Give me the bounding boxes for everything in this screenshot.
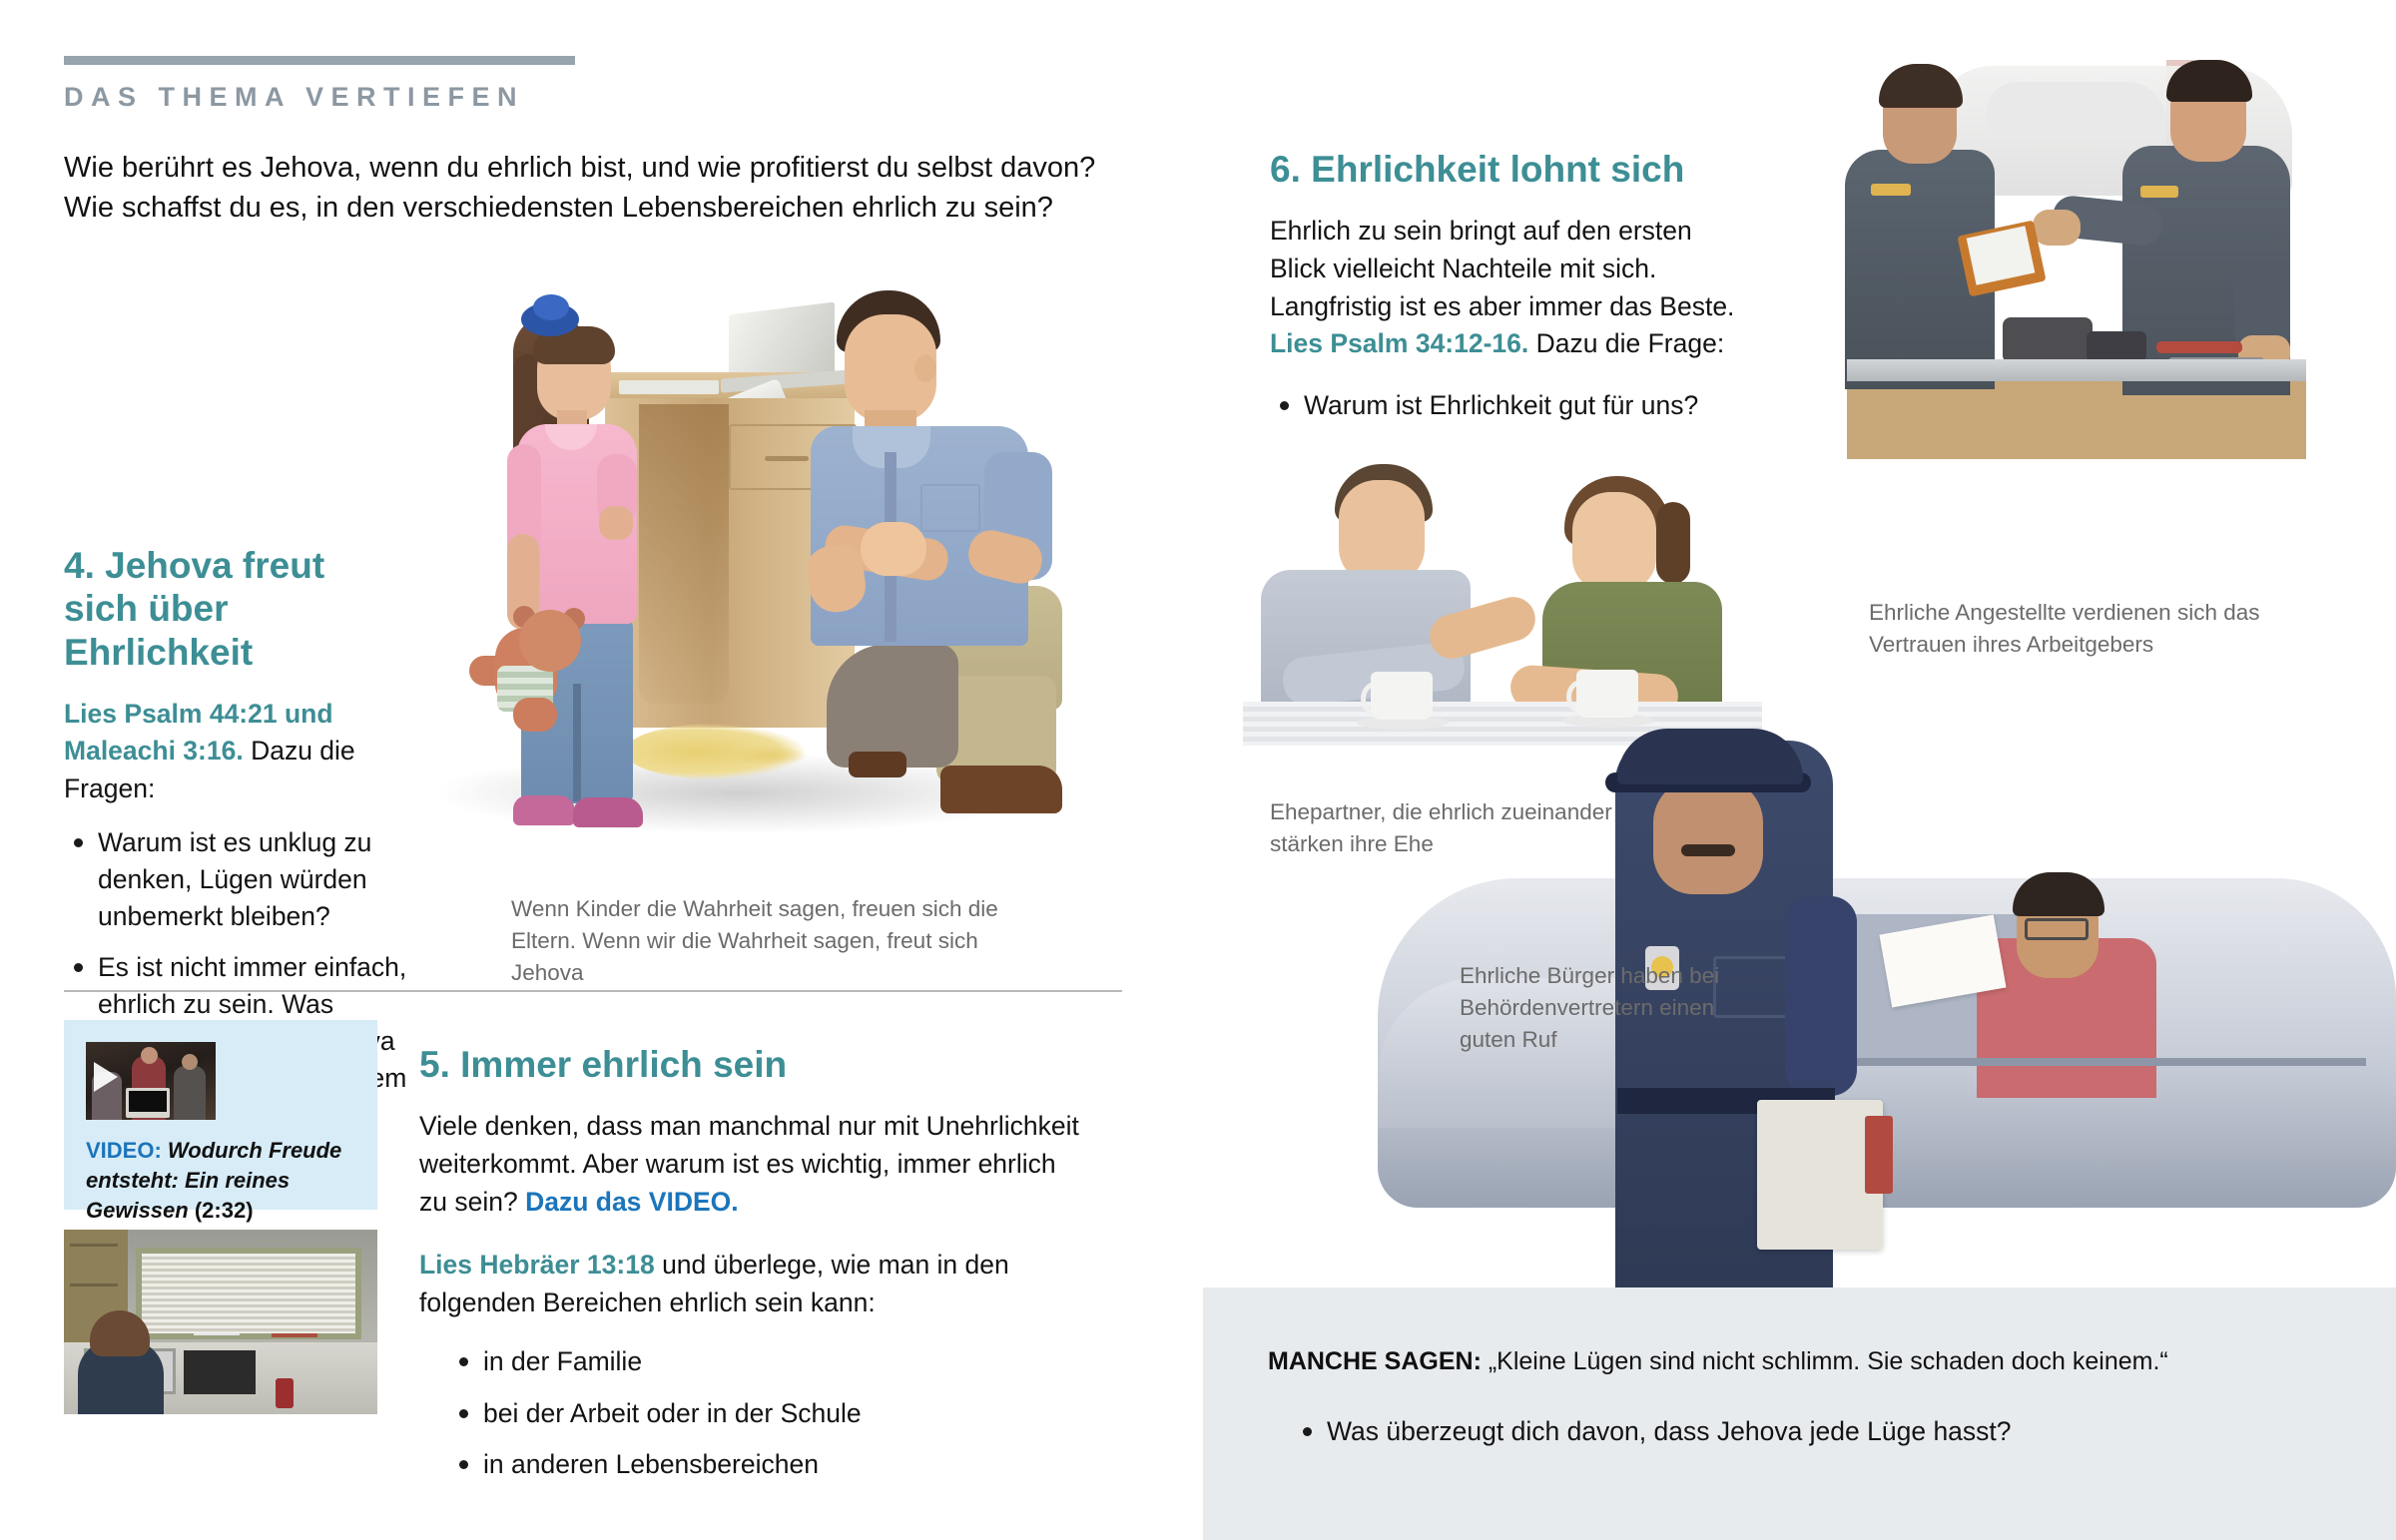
manche-sagen-label: MANCHE SAGEN: bbox=[1268, 1347, 1482, 1375]
girl-shoe-left bbox=[513, 795, 575, 825]
manche-sagen-quote: „Kleine Lügen sind nicht schlimm. Sie sc… bbox=[1482, 1347, 2168, 1375]
scripture-reference-link[interactable]: Lies Hebräer 13:18 bbox=[419, 1250, 655, 1280]
employer-name-badge bbox=[1871, 184, 1911, 196]
father-ear bbox=[914, 354, 936, 382]
workshop-illustration bbox=[1837, 60, 2356, 569]
section-6-bullet-list: Warum ist Ehrlichkeit gut für uns? bbox=[1270, 387, 1739, 424]
photo-monitor-right bbox=[184, 1350, 256, 1394]
girl-shoe-right bbox=[573, 797, 643, 827]
manche-sagen-bullet-list: Was überzeugt dich davon, dass Jehova je… bbox=[1293, 1413, 2385, 1464]
girl-hair-bow-highlight bbox=[533, 294, 569, 320]
video-photo bbox=[64, 1230, 377, 1414]
section-6-paragraph-lead: Ehrlich zu sein bringt auf den ersten Bl… bbox=[1270, 216, 1734, 320]
officer-moustache bbox=[1681, 844, 1735, 856]
father-kneeling-leg bbox=[827, 644, 958, 768]
thumbnail-person-center-head bbox=[141, 1047, 158, 1064]
family-illustration bbox=[429, 284, 1068, 883]
mechanic-name-badge bbox=[2140, 186, 2178, 198]
section-5-bullet-list: in der Familie bei der Arbeit oder in de… bbox=[419, 1343, 1088, 1482]
cup-right bbox=[1576, 670, 1638, 718]
video-caption: VIDEO: Wodurch Freude entsteht: Ein rein… bbox=[86, 1136, 357, 1226]
father-hand-upper bbox=[861, 522, 926, 576]
header-rule bbox=[64, 56, 575, 65]
photo-window-blinds bbox=[142, 1254, 355, 1333]
drawer-handle bbox=[765, 456, 809, 461]
juice-spill-splatter bbox=[729, 746, 809, 766]
video-label: VIDEO: bbox=[86, 1138, 162, 1163]
manche-sagen-statement: MANCHE SAGEN: „Kleine Lügen sind nicht s… bbox=[1268, 1345, 2346, 1379]
lifted-car-window bbox=[1987, 82, 2166, 134]
toy-head bbox=[519, 610, 581, 672]
officer-head bbox=[1653, 778, 1763, 894]
girl-right-hand bbox=[599, 506, 633, 540]
video-card[interactable]: VIDEO: Wodurch Freude entsteht: Ein rein… bbox=[64, 1020, 377, 1210]
list-item: Was überzeugt dich davon, dass Jehova je… bbox=[1327, 1413, 2385, 1450]
photo-window bbox=[136, 1248, 361, 1339]
wife-ponytail bbox=[1656, 502, 1690, 584]
section-6-heading: 6. Ehrlichkeit lohnt sich bbox=[1270, 148, 1739, 191]
employer-hair bbox=[1879, 64, 1963, 108]
family-illustration-caption: Wenn Kinder die Wahrheit sagen, freuen s… bbox=[511, 893, 1050, 989]
scripture-reference-link[interactable]: Lies Psalm 34:12-16. bbox=[1270, 328, 1528, 358]
section-5-heading: 5. Immer ehrlich sein bbox=[419, 1043, 1088, 1086]
photo-cabinet-line-top bbox=[70, 1244, 118, 1247]
section-6: 6. Ehrlichkeit lohnt sich Ehrlich zu sei… bbox=[1270, 148, 1739, 438]
list-item: bei der Arbeit oder in der Schule bbox=[483, 1395, 1088, 1432]
list-item: Warum ist es unklug zu denken, Lügen wür… bbox=[98, 824, 408, 935]
workbench-top bbox=[1847, 359, 2306, 381]
mechanic-left-hand bbox=[2033, 210, 2081, 246]
video-duration: (2:32) bbox=[195, 1198, 254, 1223]
list-item: in anderen Lebensbereichen bbox=[483, 1446, 1088, 1483]
photo-cabinet-line-bottom bbox=[70, 1283, 118, 1286]
section-6-paragraph-tail: Dazu die Frage: bbox=[1528, 328, 1724, 358]
tool-red-handle bbox=[2156, 341, 2242, 353]
citizen-illustration-caption: Ehrliche Bürger haben bei Behördenvertre… bbox=[1460, 960, 1759, 1056]
husband-head bbox=[1339, 480, 1425, 584]
officer-cap bbox=[1617, 729, 1803, 784]
officer-clipboard-band bbox=[1865, 1116, 1893, 1194]
list-item: Warum ist Ehrlichkeit gut für uns? bbox=[1304, 387, 1739, 424]
thumbnail-person-right-head bbox=[182, 1054, 198, 1070]
cup-left bbox=[1371, 672, 1433, 720]
tool-block bbox=[2087, 331, 2146, 361]
photo-travel-mug bbox=[276, 1378, 294, 1408]
thumbnail-person-right bbox=[174, 1066, 206, 1120]
video-thumbnail[interactable] bbox=[86, 1042, 216, 1120]
section-4-reference-line: Lies Psalm 44:21 und Maleachi 3:16. Dazu… bbox=[64, 696, 408, 808]
section-6-paragraph: Ehrlich zu sein bringt auf den ersten Bl… bbox=[1270, 213, 1739, 363]
officer-arm bbox=[1785, 896, 1857, 1096]
section-5-reference-line: Lies Hebräer 13:18 und überlege, wie man… bbox=[419, 1247, 1088, 1321]
video-inline-link[interactable]: Dazu das VIDEO. bbox=[525, 1187, 739, 1217]
column-divider bbox=[64, 990, 1122, 992]
section-5: 5. Immer ehrlich sein Viele denken, dass… bbox=[419, 1043, 1088, 1497]
list-item: in der Familie bbox=[483, 1343, 1088, 1380]
manche-sagen-box: MANCHE SAGEN: „Kleine Lügen sind nicht s… bbox=[1203, 1287, 2396, 1540]
father-shirt-pocket bbox=[920, 484, 980, 532]
desk-stain bbox=[639, 404, 729, 704]
section-5-paragraph: Viele denken, dass man manchmal nur mit … bbox=[419, 1108, 1088, 1221]
workshop-illustration-caption: Ehrliche Angestellte verdienen sich das … bbox=[1869, 597, 2288, 661]
couple-illustration bbox=[1243, 454, 1762, 764]
toy-leg-right bbox=[513, 698, 557, 732]
section-eyebrow: DAS THEMA VERTIEFEN bbox=[64, 82, 524, 113]
article-page: DAS THEMA VERTIEFEN Wie berührt es Jehov… bbox=[0, 0, 2396, 1540]
driver-glasses bbox=[2025, 918, 2089, 940]
section-4-heading: 4. Jehova freut sich über Ehrlichkeit bbox=[64, 544, 408, 674]
wife-head bbox=[1572, 492, 1656, 592]
section-5-paragraph-lead: Viele denken, dass man manchmal nur mit … bbox=[419, 1111, 1079, 1216]
father-shoe-front bbox=[940, 766, 1062, 813]
father-shoe-back bbox=[849, 752, 906, 777]
papers-stack bbox=[619, 380, 719, 394]
girl-jeans-seam bbox=[573, 684, 581, 801]
tool-engine-part bbox=[2003, 317, 2093, 363]
intro-paragraph: Wie berührt es Jehova, wenn du ehrlich b… bbox=[64, 148, 1102, 228]
play-icon[interactable] bbox=[94, 1062, 118, 1092]
thumbnail-monitor bbox=[126, 1088, 170, 1118]
